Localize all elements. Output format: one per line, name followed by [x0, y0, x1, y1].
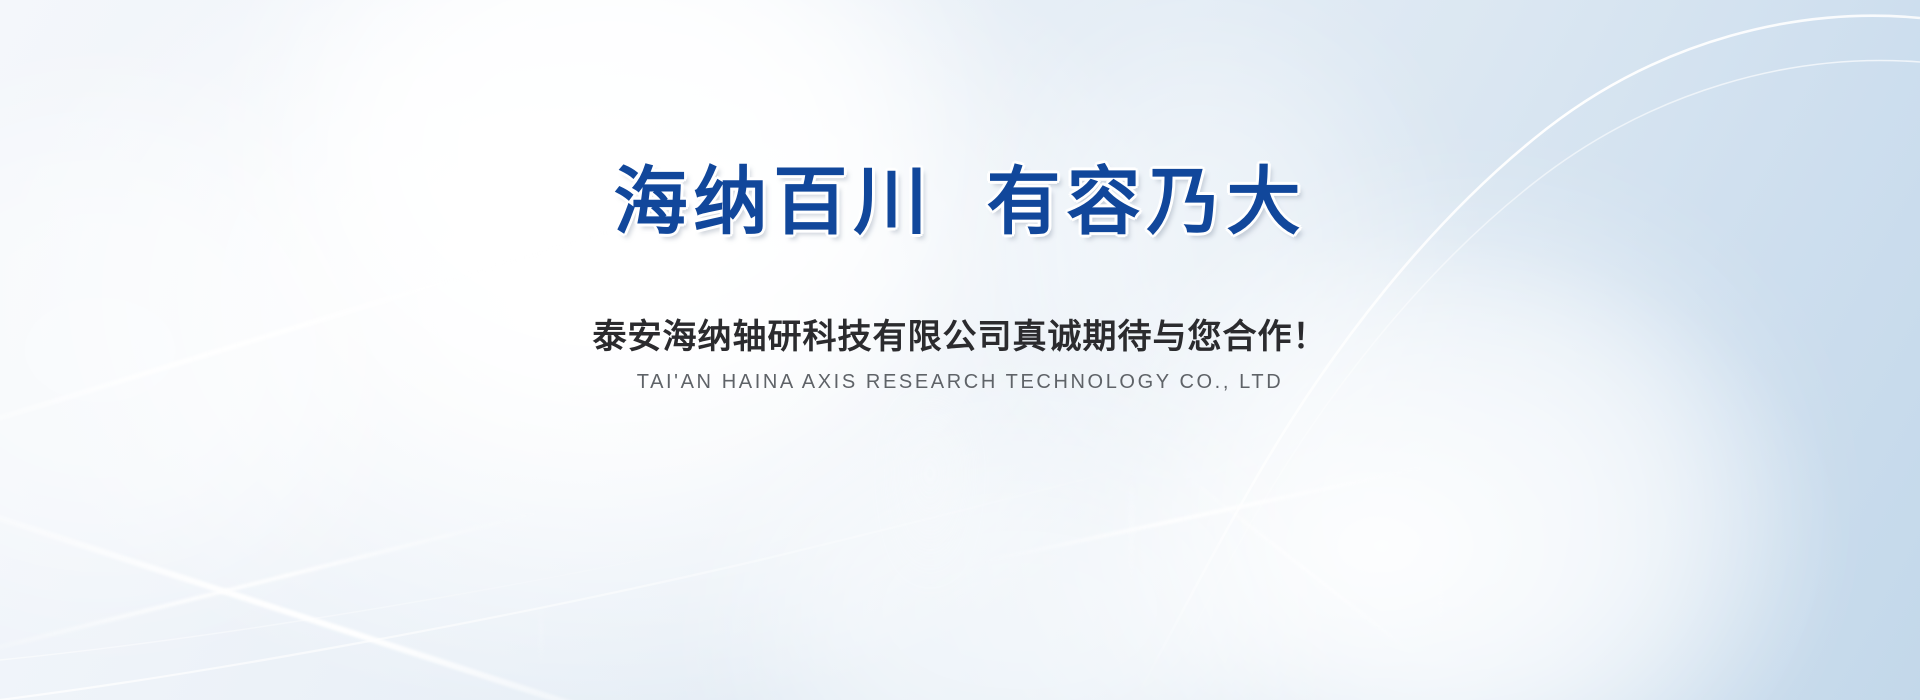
hero-banner: 海纳百川 有容乃大 泰安海纳轴研科技有限公司真诚期待与您合作！ TAI'AN H…: [0, 0, 1920, 700]
banner-subtitle-chinese: 泰安海纳轴研科技有限公司真诚期待与您合作！: [593, 309, 1328, 358]
banner-subtitle-english: TAI'AN HAINA AXIS RESEARCH TECHNOLOGY CO…: [637, 371, 1284, 394]
banner-headline: 海纳百川 有容乃大: [613, 163, 1306, 241]
banner-content: 海纳百川 有容乃大 泰安海纳轴研科技有限公司真诚期待与您合作！ TAI'AN H…: [0, 0, 1920, 700]
